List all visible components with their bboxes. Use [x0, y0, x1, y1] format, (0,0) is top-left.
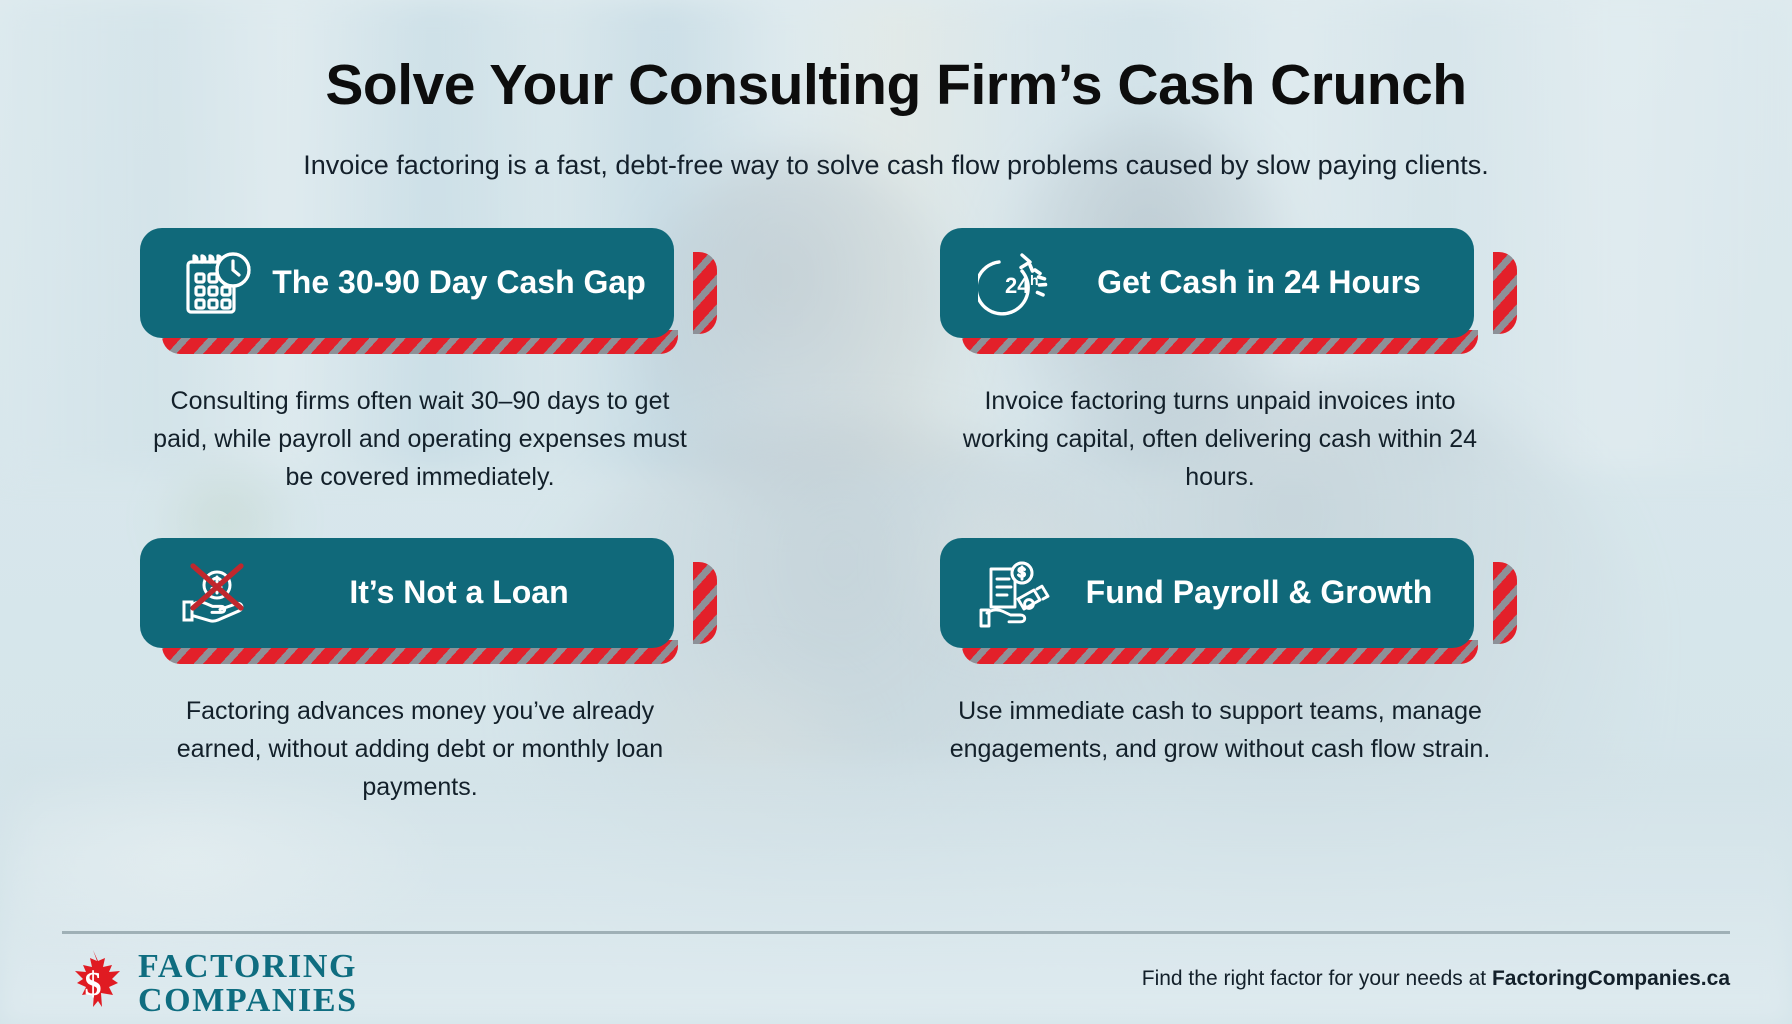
stripe-accent-right	[1493, 252, 1517, 334]
logo-dollar-sign: $	[85, 966, 102, 1003]
footer-cta-brand[interactable]: FactoringCompanies.ca	[1492, 967, 1730, 990]
no-loan-icon	[174, 550, 260, 636]
card-fund-payroll-growth: Fund Payroll & Growth Use immediate cash…	[940, 538, 1500, 768]
logo-line-2: COMPANIES	[138, 984, 358, 1017]
card-title: Fund Payroll & Growth	[1060, 574, 1458, 612]
card-title: Get Cash in 24 Hours	[1060, 264, 1458, 302]
card-body: Invoice factoring turns unpaid invoices …	[940, 382, 1500, 496]
maple-leaf-dollar-icon: $	[62, 948, 124, 1019]
footer-cta: Find the right factor for your needs at …	[1142, 967, 1730, 991]
page-title: Solve Your Consulting Firm’s Cash Crunch	[0, 52, 1792, 118]
card-not-a-loan: It’s Not a Loan Factoring advances money…	[140, 538, 700, 806]
stripe-accent-right	[693, 252, 717, 334]
page-subtitle: Invoice factoring is a fast, debt-free w…	[0, 150, 1792, 181]
footer-divider	[62, 931, 1730, 934]
calendar-clock-icon	[174, 240, 260, 326]
card-get-cash-24-hours: 24 h Get Cash in 24 Hours Invoice factor…	[940, 228, 1500, 496]
invoice-cash-hand-icon	[974, 550, 1060, 636]
card-body: Factoring advances money you’ve already …	[140, 692, 700, 806]
card-body: Use immediate cash to support teams, man…	[940, 692, 1500, 768]
icon-h-label: h	[1030, 272, 1039, 288]
card-title: The 30-90 Day Cash Gap	[260, 264, 658, 302]
card-title: It’s Not a Loan	[260, 574, 658, 612]
stripe-accent-right	[693, 562, 717, 644]
logo-line-1: FACTORING	[138, 950, 358, 983]
brand-logo[interactable]: $ FACTORING COMPANIES	[62, 948, 358, 1019]
card-cash-gap: The 30-90 Day Cash Gap Consulting firms …	[140, 228, 700, 496]
icon-24-label: 24	[1005, 273, 1030, 298]
footer-cta-text: Find the right factor for your needs at	[1142, 967, 1492, 990]
card-body: Consulting firms often wait 30–90 days t…	[140, 382, 700, 496]
stripe-accent-right	[1493, 562, 1517, 644]
24-hour-clock-icon: 24 h	[974, 240, 1060, 326]
